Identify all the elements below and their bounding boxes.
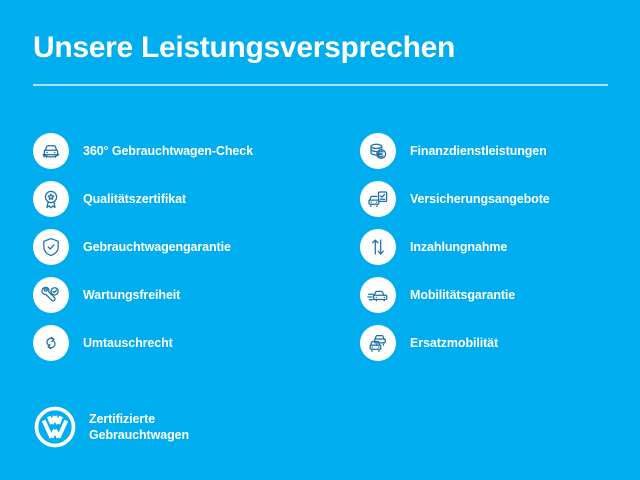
car-motion-icon	[360, 277, 396, 313]
promise-panel: Unsere Leistungsversprechen 360° Gebrauc…	[0, 0, 640, 480]
footer-text: Zertifizierte Gebrauchtwagen	[89, 411, 189, 443]
two-cars-icon	[360, 325, 396, 361]
promise-item-maintenance-free: Wartungsfreiheit	[33, 271, 323, 319]
promise-item-insurance-offers: Versicherungsangebote	[360, 175, 640, 223]
promise-item-warranty: Gebrauchtwagengarantie	[33, 223, 323, 271]
coins-euro-icon	[360, 133, 396, 169]
footer-brand: Zertifizierte Gebrauchtwagen	[33, 405, 189, 449]
promise-label: Gebrauchtwagengarantie	[83, 240, 231, 254]
promise-item-mobility-guarantee: Mobilitätsgarantie	[360, 271, 640, 319]
promise-label: Umtauschrecht	[83, 336, 173, 350]
promise-label: Inzahlungnahme	[410, 240, 507, 254]
footer-line-1: Zertifizierte	[89, 411, 189, 427]
wrench-check-icon	[33, 277, 69, 313]
promise-item-financial-services: Finanzdienstleistungen	[360, 127, 640, 175]
page-title: Unsere Leistungsversprechen	[33, 30, 455, 66]
promise-column-right: Finanzdienstleistungen Versicherungsange…	[360, 127, 640, 367]
car-document-check-icon	[360, 181, 396, 217]
promise-label: Qualitätszertifikat	[83, 192, 186, 206]
volkswagen-logo-icon	[33, 405, 77, 449]
promise-label: Versicherungsangebote	[410, 192, 550, 206]
promise-item-replacement-mobility: Ersatzmobilität	[360, 319, 640, 367]
promise-item-exchange-right: Umtauschrecht	[33, 319, 323, 367]
promise-label: 360° Gebrauchtwagen-Check	[83, 144, 253, 158]
promise-label: Mobilitätsgarantie	[410, 288, 515, 302]
shield-check-icon	[33, 229, 69, 265]
footer-line-2: Gebrauchtwagen	[89, 427, 189, 443]
exchange-arrows-icon	[33, 325, 69, 361]
promise-label: Ersatzmobilität	[410, 336, 498, 350]
promise-column-left: 360° Gebrauchtwagen-Check Qualitätszerti…	[33, 127, 323, 367]
promise-item-quality-certificate: Qualitätszertifikat	[33, 175, 323, 223]
title-divider	[33, 84, 608, 86]
promise-label: Finanzdienstleistungen	[410, 144, 547, 158]
promise-item-360-check: 360° Gebrauchtwagen-Check	[33, 127, 323, 175]
promise-label: Wartungsfreiheit	[83, 288, 180, 302]
car-360-check-icon	[33, 133, 69, 169]
quality-seal-icon	[33, 181, 69, 217]
up-down-arrows-icon	[360, 229, 396, 265]
promise-item-trade-in: Inzahlungnahme	[360, 223, 640, 271]
